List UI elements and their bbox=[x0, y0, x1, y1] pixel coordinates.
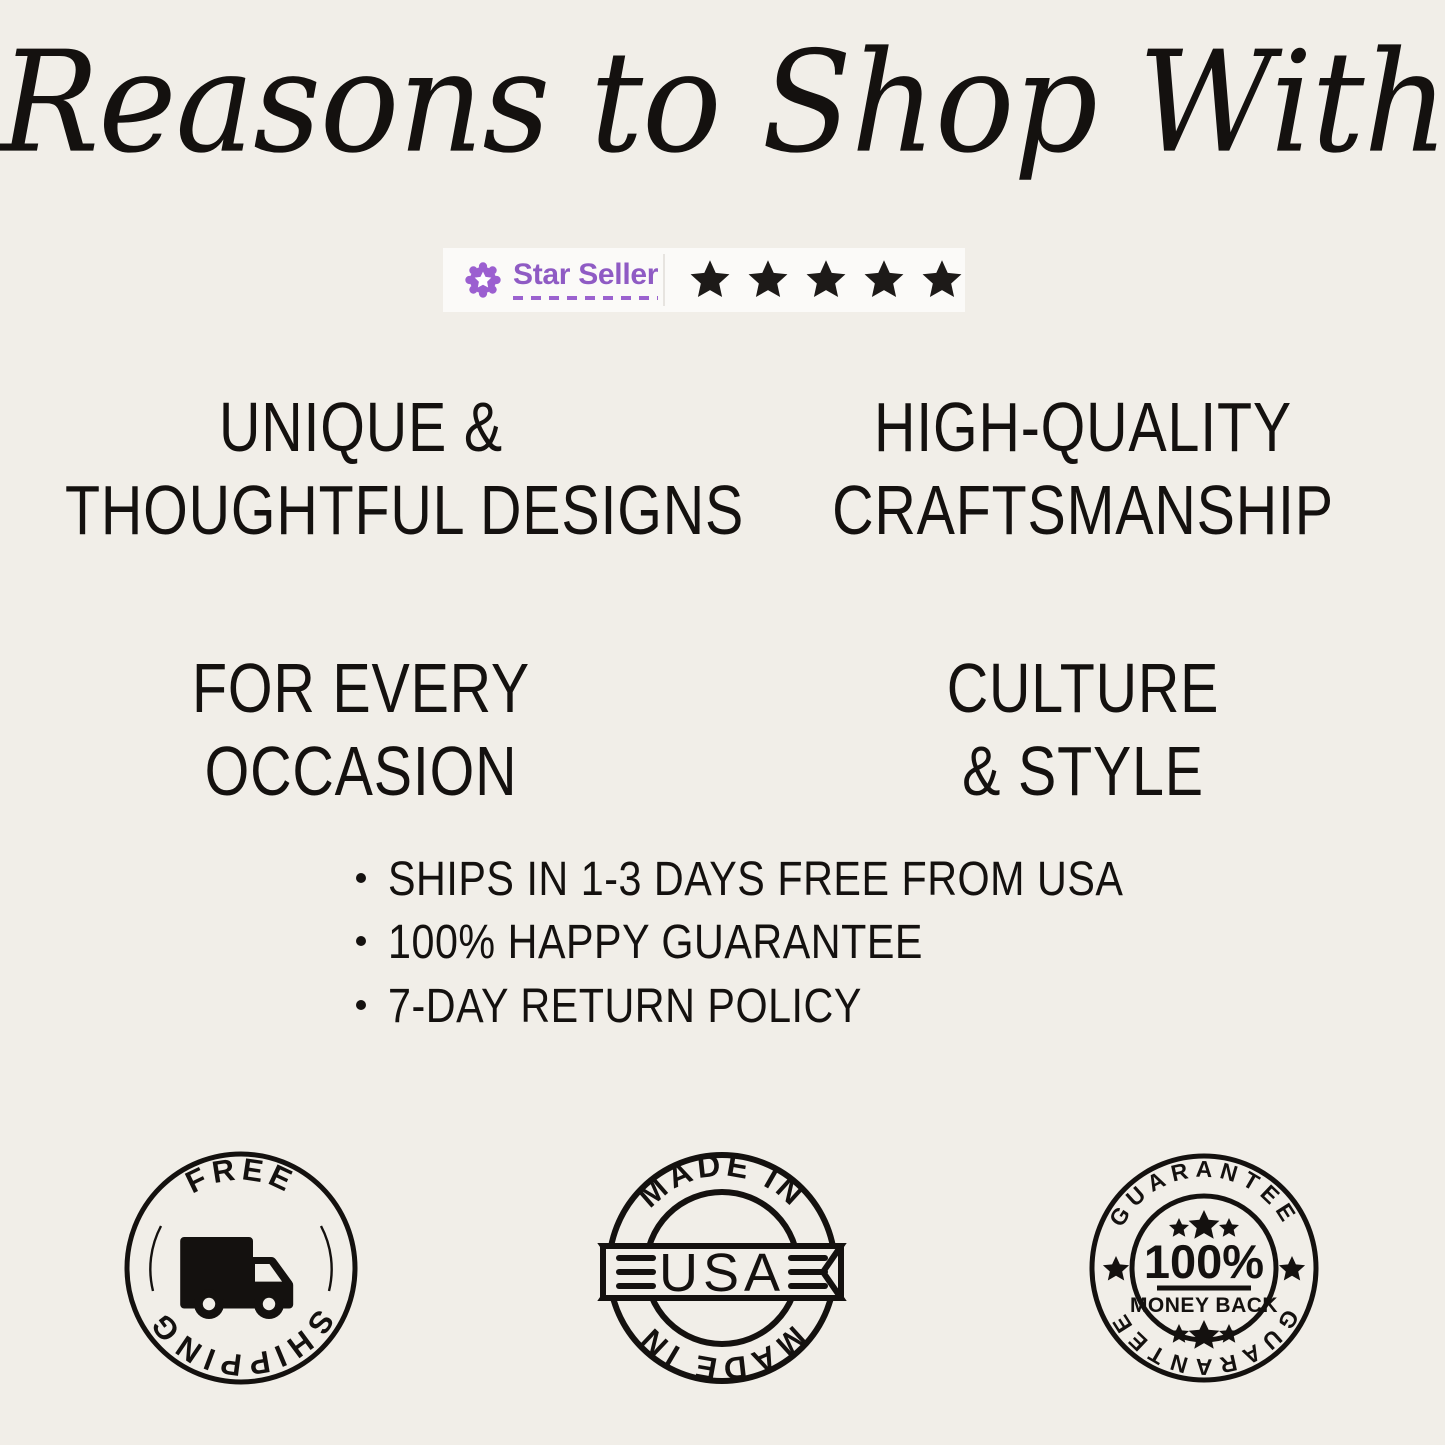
feature-line: THOUGHTFUL DESIGNS bbox=[65, 469, 657, 552]
star-seller-badge: Star Seller bbox=[443, 248, 965, 312]
star-seller-underline bbox=[513, 296, 658, 300]
star-icon bbox=[745, 258, 791, 302]
money-back-guarantee-badge: GUARANTEE GUARANTEE 100% bbox=[963, 1148, 1445, 1388]
free-shipping-bottom-text: SHIPPING bbox=[141, 1304, 341, 1383]
usa-ribbon-text: USA bbox=[659, 1243, 785, 1303]
list-item-label: SHIPS IN 1-3 DAYS FREE FROM USA bbox=[388, 848, 1123, 911]
usa-ribbon: USA bbox=[603, 1243, 841, 1303]
star-icon bbox=[861, 258, 907, 302]
feature-line: CRAFTSMANSHIP bbox=[787, 469, 1379, 552]
feature-line: & STYLE bbox=[787, 730, 1379, 813]
page-title: Reasons to Shop With Us bbox=[0, 30, 1445, 177]
promo-graphic: Reasons to Shop With Us bbox=[0, 0, 1445, 1445]
guarantee-percent: 100% bbox=[1144, 1235, 1264, 1288]
svg-text:MADE IN: MADE IN bbox=[631, 1148, 814, 1214]
list-item-label: 100% HAPPY GUARANTEE bbox=[388, 911, 923, 974]
list-item: 100% HAPPY GUARANTEE bbox=[356, 911, 1010, 974]
star-icon bbox=[919, 258, 965, 302]
feature-unique-thoughtful-designs: UNIQUE & THOUGHTFUL DESIGNS bbox=[65, 386, 657, 551]
bullet-dot-icon bbox=[356, 936, 366, 946]
delivery-truck-icon bbox=[180, 1237, 293, 1319]
feature-line: UNIQUE & bbox=[65, 386, 657, 469]
feature-line: HIGH-QUALITY bbox=[787, 386, 1379, 469]
star-seller-label-group: Star Seller bbox=[443, 260, 663, 300]
free-shipping-top-text: FREE bbox=[180, 1151, 302, 1200]
page-title-wrapper: Reasons to Shop With Us bbox=[0, 34, 1445, 173]
list-item-label: 7-DAY RETURN POLICY bbox=[388, 975, 862, 1038]
bullet-dot-icon bbox=[356, 873, 366, 883]
list-item: SHIPS IN 1-3 DAYS FREE FROM USA bbox=[356, 848, 1243, 911]
made-in-top-text: MADE IN bbox=[631, 1148, 814, 1214]
feature-line: CULTURE bbox=[787, 647, 1379, 730]
list-item: 7-DAY RETURN POLICY bbox=[356, 975, 939, 1038]
feature-culture-and-style: CULTURE & STYLE bbox=[787, 647, 1379, 812]
feature-row: FOR EVERY OCCASION CULTURE & STYLE bbox=[0, 647, 1445, 812]
star-seller-text-column: Star Seller bbox=[513, 260, 658, 300]
star-icon bbox=[803, 258, 849, 302]
feature-line: OCCASION bbox=[65, 730, 657, 813]
star-seller-medal-icon bbox=[465, 262, 501, 298]
feature-high-quality-craftsmanship: HIGH-QUALITY CRAFTSMANSHIP bbox=[787, 386, 1379, 551]
star-icon bbox=[687, 258, 733, 302]
guarantee-caption: MONEY BACK bbox=[1130, 1294, 1278, 1317]
made-in-usa-badge: MADE IN MADE IN bbox=[482, 1148, 964, 1388]
made-in-bottom-text: MADE IN bbox=[631, 1319, 814, 1388]
svg-text:FREE: FREE bbox=[180, 1151, 302, 1200]
trust-badge-row: FREE SHIPPING bbox=[0, 1148, 1445, 1388]
star-seller-label: Star Seller bbox=[513, 260, 658, 290]
policy-bullet-list: SHIPS IN 1-3 DAYS FREE FROM USA 100% HAP… bbox=[0, 848, 1445, 1038]
svg-text:MADE IN: MADE IN bbox=[631, 1319, 814, 1388]
bullet-dot-icon bbox=[356, 1000, 366, 1010]
feature-grid: UNIQUE & THOUGHTFUL DESIGNS HIGH-QUALITY… bbox=[0, 386, 1445, 812]
svg-text:SHIPPING: SHIPPING bbox=[141, 1304, 341, 1383]
feature-row: UNIQUE & THOUGHTFUL DESIGNS HIGH-QUALITY… bbox=[0, 386, 1445, 551]
rating-stars bbox=[665, 258, 965, 302]
feature-line: FOR EVERY bbox=[65, 647, 657, 730]
feature-for-every-occasion: FOR EVERY OCCASION bbox=[65, 647, 657, 812]
free-shipping-badge: FREE SHIPPING bbox=[0, 1148, 482, 1388]
guarantee-bottom-stars bbox=[1169, 1320, 1239, 1349]
